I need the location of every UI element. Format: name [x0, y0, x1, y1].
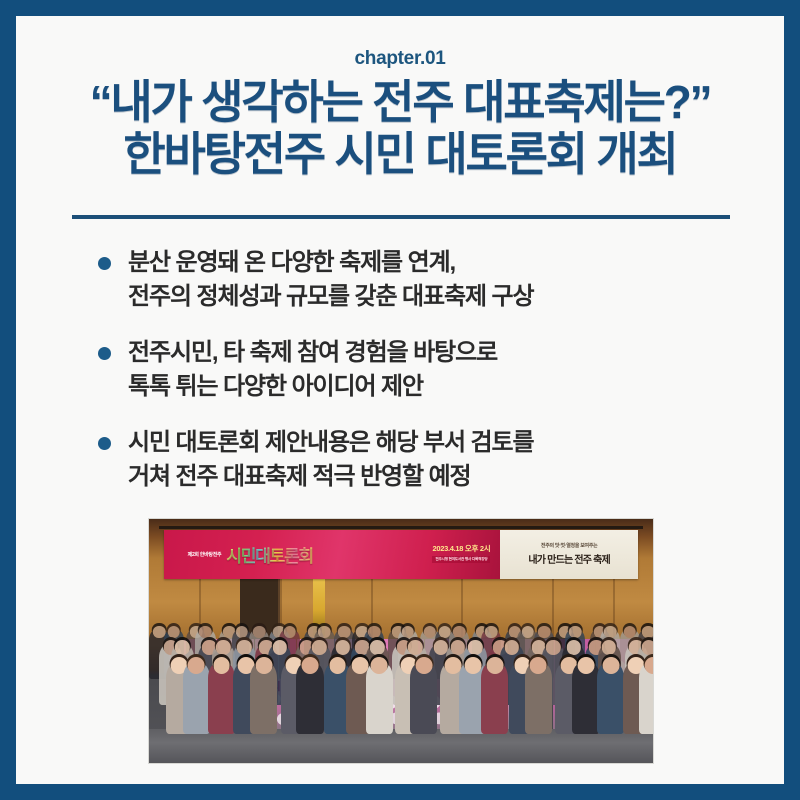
attendee-head: [578, 657, 595, 674]
banner-date-subtext: 전주시청 현여도서관 행사 다목적강당: [432, 556, 490, 563]
attendee-head: [486, 657, 503, 674]
attendee-head: [546, 640, 560, 654]
bullet-dot-icon: [98, 437, 111, 450]
attendee: [366, 662, 393, 734]
attendee-head: [199, 626, 211, 638]
bullet-line-2: 거쳐 전주 대표축제 적극 반영할 예정: [128, 460, 744, 494]
list-item: 전주시민, 타 축제 참여 경험을 바탕으로 톡톡 튀는 다양한 아이디어 제안: [84, 336, 744, 404]
attendee: [410, 662, 437, 734]
attendee: [572, 662, 599, 734]
attendee: [525, 662, 552, 734]
attendee-head: [318, 626, 330, 638]
attendee-head: [604, 626, 616, 638]
title-divider: [72, 215, 730, 219]
attendee-head: [569, 626, 581, 638]
banner-right-panel: 전주의 맛·멋·열정을 보여주는 내가 만드는 전주 축제: [500, 530, 637, 579]
bullet-line-1: 전주시민, 타 축제 참여 경험을 바탕으로: [128, 336, 744, 370]
attendee-head: [602, 657, 619, 674]
attendee-head: [301, 657, 318, 674]
list-item: 시민 대토론회 제안내용은 해당 부서 검토를 거쳐 전주 대표축제 적극 반영…: [84, 426, 744, 494]
attendee: [597, 662, 624, 734]
banner-date-text: 2023.4.18 오후 2시: [432, 543, 490, 554]
attendee-head: [216, 640, 230, 654]
bullet-line-1: 시민 대토론회 제안내용은 해당 부서 검토를: [128, 426, 744, 460]
attendee-head: [351, 657, 368, 674]
attendee-head: [188, 657, 205, 674]
chapter-label: chapter.01: [16, 48, 784, 70]
attendee: [183, 662, 210, 734]
banner-date-block: 2023.4.18 오후 2시 전주시청 현여도서관 행사 다목적강당: [432, 543, 490, 563]
attendee-head: [530, 657, 547, 674]
attendee-head: [370, 640, 384, 654]
title-line-2: 한바탕전주 시민 대토론회 개최: [16, 130, 784, 180]
page-title: “내가 생각하는 전주 대표축제는?” 한바탕전주 시민 대토론회 개최: [16, 78, 784, 179]
attendee-head: [253, 626, 265, 638]
attendee-head: [338, 626, 350, 638]
attendee-head: [451, 640, 465, 654]
attendee-head: [464, 657, 481, 674]
attendee: [481, 662, 508, 734]
banner-left-panel: 제2회 한바탕전주 시민대토론회 2023.4.18 오후 2시 전주시청 현여…: [164, 530, 500, 579]
attendee: [250, 662, 277, 734]
attendee-head: [521, 626, 533, 638]
bullet-line-2: 톡톡 튀는 다양한 아이디어 제안: [128, 370, 744, 404]
attendee-head: [401, 626, 413, 638]
attendee-head: [312, 640, 326, 654]
event-photo: 제2회 한바탕전주 시민대토론회 2023.4.18 오후 2시 전주시청 현여…: [148, 518, 654, 764]
bullet-list: 분산 운영돼 온 다양한 축제를 연계, 전주의 정체성과 규모를 갖춘 대표축…: [84, 246, 744, 516]
banner-side-pre-text: 전주의 맛·멋·열정을 보여주는: [541, 542, 598, 549]
attendee-head: [368, 626, 380, 638]
event-banner: 제2회 한바탕전주 시민대토론회 2023.4.18 오후 2시 전주시청 현여…: [164, 530, 638, 579]
banner-pre-text: 제2회 한바탕전주: [188, 551, 222, 558]
bullet-line-2: 전주의 정체성과 규모를 갖춘 대표축제 구상: [128, 280, 744, 314]
attendee-head: [485, 626, 497, 638]
attendee: [208, 662, 235, 734]
promo-card: chapter.01 “내가 생각하는 전주 대표축제는?” 한바탕전주 시민 …: [0, 0, 800, 800]
attendee-head: [272, 640, 286, 654]
attendee-head: [424, 626, 436, 638]
attendee-head: [237, 640, 251, 654]
card-inner-panel: chapter.01 “내가 생각하는 전주 대표축제는?” 한바탕전주 시민 …: [16, 16, 784, 784]
attendee: [296, 662, 323, 734]
title-line-1: “내가 생각하는 전주 대표축제는?”: [16, 78, 784, 128]
bullet-dot-icon: [98, 257, 111, 270]
attendee-head: [602, 640, 616, 654]
attendee-head: [505, 640, 519, 654]
attendee-head: [175, 640, 189, 654]
photo-stage-backdrop: 제2회 한바탕전주 시민대토론회 2023.4.18 오후 2시 전주시청 현여…: [149, 519, 653, 763]
attendee-head: [283, 626, 295, 638]
attendee-head: [371, 657, 388, 674]
attendee-head: [642, 626, 654, 638]
banner-main-text: 시민대토론회: [226, 542, 313, 567]
attendee-head: [624, 626, 636, 638]
attendee-head: [213, 657, 230, 674]
attendee-head: [235, 626, 247, 638]
attendee-head: [408, 640, 422, 654]
attendee-head: [415, 657, 432, 674]
bullet-line-1: 분산 운영돼 온 다양한 축제를 연계,: [128, 246, 744, 280]
attendee-head: [642, 640, 654, 654]
attendee-head: [335, 640, 349, 654]
attendee-head: [538, 626, 550, 638]
attendee: [639, 662, 654, 734]
attendee-head: [566, 640, 580, 654]
attendee-head: [468, 640, 482, 654]
banner-side-main-text: 내가 만드는 전주 축제: [528, 551, 610, 566]
attendee-head: [453, 626, 465, 638]
attendee-head: [645, 657, 654, 674]
banner-rail: [159, 526, 643, 529]
attendee-head: [329, 657, 346, 674]
attendee-head: [167, 626, 179, 638]
bullet-dot-icon: [98, 347, 111, 360]
list-item: 분산 운영돼 온 다양한 축제를 연계, 전주의 정체성과 규모를 갖춘 대표축…: [84, 246, 744, 314]
crowd-of-attendees: [149, 626, 653, 736]
attendee-head: [255, 657, 272, 674]
